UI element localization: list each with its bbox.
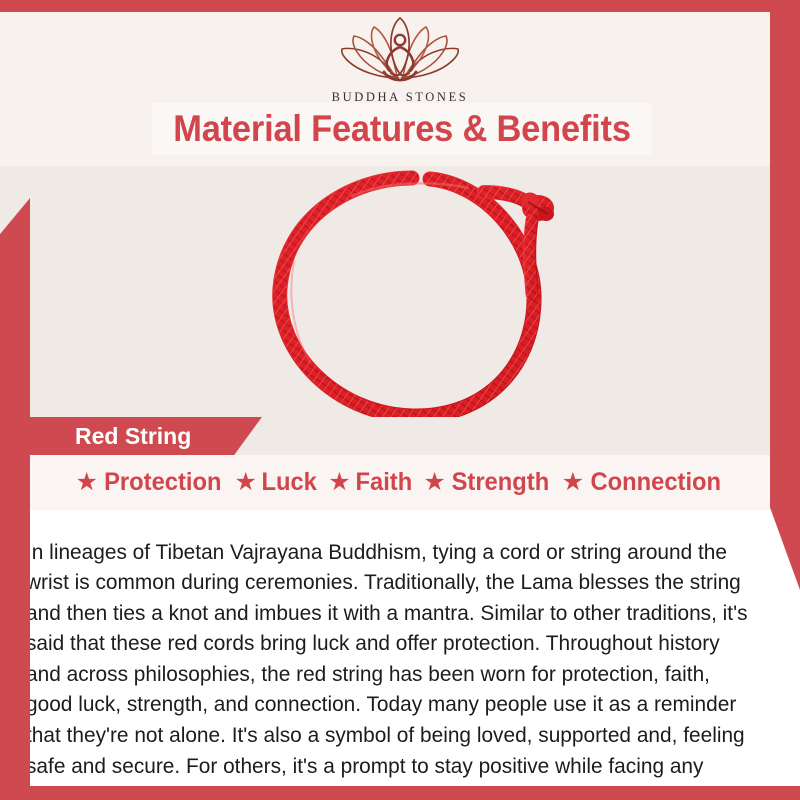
benefit-label-connection: Connection <box>590 470 721 495</box>
material-label-banner: Red String <box>30 417 262 455</box>
red-string-bracelet-image <box>232 162 592 434</box>
brand-logo: BUDDHA STONES <box>0 16 800 105</box>
benefit-item: ★ Faith <box>328 470 413 495</box>
star-icon: ★ <box>235 470 257 495</box>
page-title-band: Material Features & Benefits <box>152 103 652 155</box>
page-title: Material Features & Benefits <box>173 108 631 150</box>
star-icon: ★ <box>75 470 97 495</box>
material-label: Red String <box>30 423 191 450</box>
infographic-page: BUDDHA STONES Material Features & Benefi… <box>0 0 800 800</box>
frame-right-border <box>770 0 800 590</box>
benefit-item: ★ Connection <box>562 470 725 495</box>
product-image-area <box>0 166 800 420</box>
star-icon: ★ <box>423 470 445 495</box>
description-body: In lineages of Tibetan Vajrayana Buddhis… <box>26 537 750 800</box>
frame-top-border <box>0 0 800 12</box>
lotus-meditation-figure-icon <box>329 16 471 88</box>
benefit-label-faith: Faith <box>355 470 412 495</box>
star-icon: ★ <box>328 470 350 495</box>
benefit-label-protection: Protection <box>104 470 221 495</box>
description-area: In lineages of Tibetan Vajrayana Buddhis… <box>0 510 800 786</box>
benefit-label-luck: Luck <box>261 470 316 495</box>
benefit-item: ★ Strength <box>423 470 551 495</box>
benefit-item: ★ Protection <box>75 470 224 495</box>
benefit-item: ★ Luck <box>235 470 319 495</box>
benefits-strip: ★ Protection ★ Luck ★ Faith ★ Strength ★… <box>0 455 800 510</box>
benefits-row: ★ Protection ★ Luck ★ Faith ★ Strength ★… <box>67 470 732 495</box>
frame-bottom-border <box>0 786 800 800</box>
frame-left-border <box>0 198 30 800</box>
star-icon: ★ <box>562 470 584 495</box>
benefit-label-strength: Strength <box>451 470 549 495</box>
